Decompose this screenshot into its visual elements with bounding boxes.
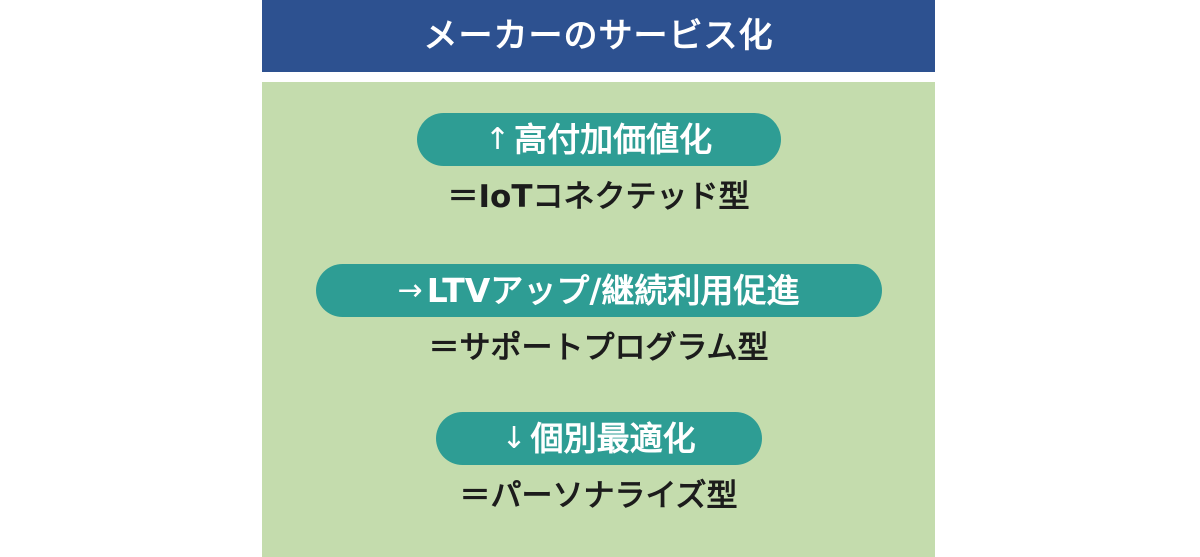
block-item-2: → LTVアップ/継続利用促進 ＝サポートプログラム型 (262, 264, 935, 364)
content-panel: ↑ 高付加価値化 ＝IoTコネクテッド型 → LTVアップ/継続利用促進 ＝サポ… (262, 82, 935, 557)
pill-individual-optimization: ↓ 個別最適化 (436, 412, 762, 465)
header-bar: メーカーのサービス化 (262, 0, 935, 72)
pill-ltv-up: → LTVアップ/継続利用促進 (316, 264, 882, 317)
page-title: メーカーのサービス化 (424, 19, 774, 53)
block-item-1: ↑ 高付加価値化 ＝IoTコネクテッド型 (262, 113, 935, 213)
pill-high-value: ↑ 高付加価値化 (417, 113, 781, 166)
figure-root: メーカーのサービス化 ↑ 高付加価値化 ＝IoTコネクテッド型 → LTVアップ… (0, 0, 1200, 557)
arrow-down-icon: ↓ (501, 424, 526, 454)
arrow-right-icon: → (398, 276, 423, 306)
pill-label: 個別最適化 (531, 422, 696, 455)
pill-label: LTVアップ/継続利用促進 (427, 274, 800, 307)
pill-label: 高付加価値化 (514, 123, 712, 156)
caption-text: ＝サポートプログラム型 (428, 333, 768, 364)
block-item-3: ↓ 個別最適化 ＝パーソナライズ型 (262, 412, 935, 512)
arrow-up-icon: ↑ (485, 125, 510, 155)
caption-text: ＝IoTコネクテッド型 (448, 182, 750, 213)
caption-text: ＝パーソナライズ型 (459, 481, 737, 512)
